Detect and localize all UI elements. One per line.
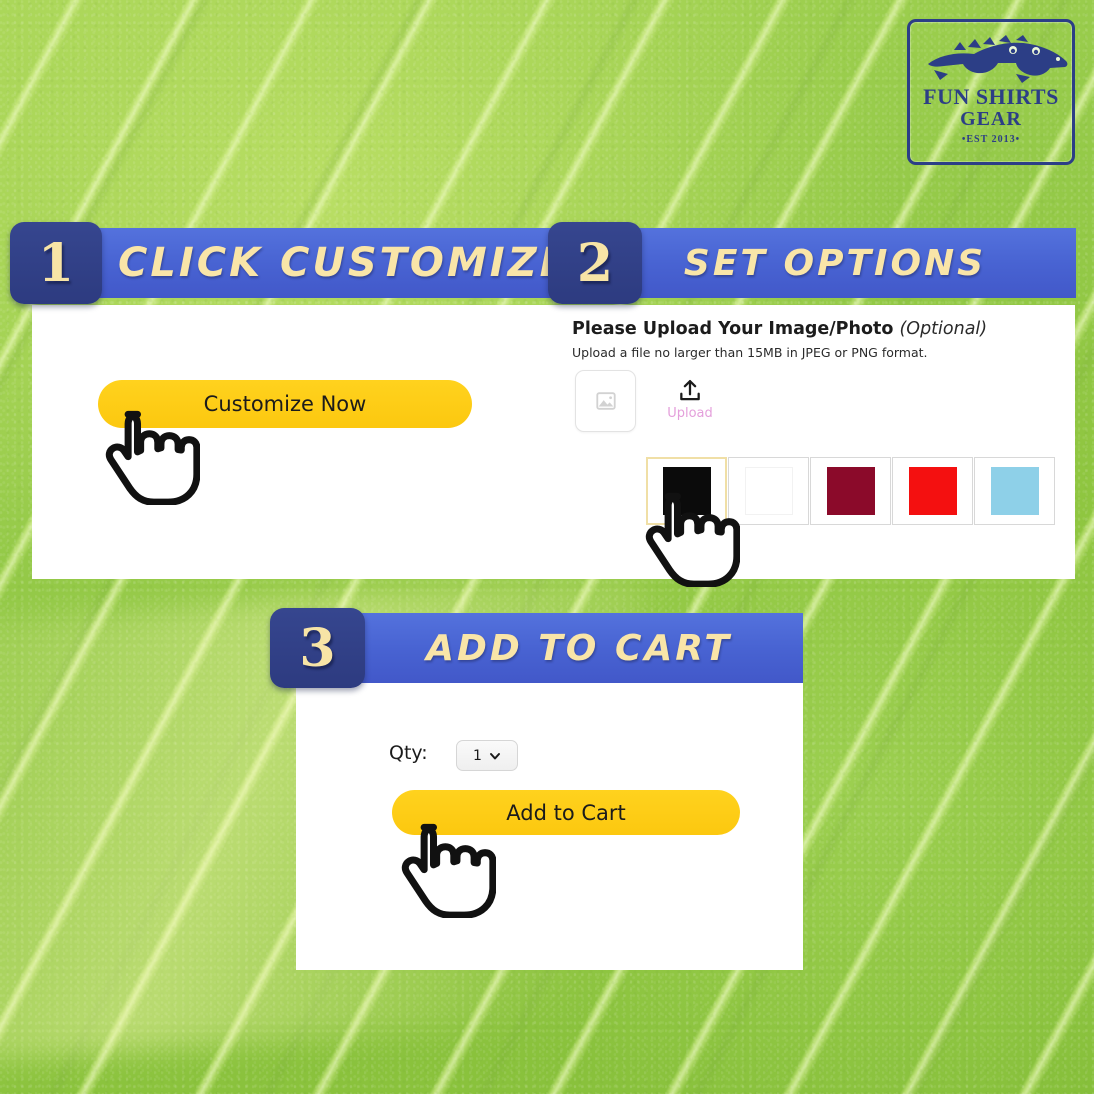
quantity-value: 1 [473,748,482,764]
logo-line-1: FUN SHIRTS [910,84,1072,110]
step-2-title: SET OPTIONS [684,243,986,284]
upload-heading: Please Upload Your Image/Photo (Optional… [572,319,987,339]
pointing-hand-cursor-step-2 [640,487,740,587]
quantity-label: Qty: [389,742,428,764]
logo-line-2: GEAR [910,108,1072,131]
logo-line-3: •EST 2013• [910,134,1072,145]
brand-logo[interactable]: FUN SHIRTS GEAR •EST 2013• [907,19,1075,165]
step-2-number: 2 [577,233,613,294]
upload-heading-optional: (Optional) [899,319,987,339]
step-2-badge: 2 [548,222,642,304]
color-swatch-maroon[interactable] [810,457,891,525]
quantity-select[interactable]: 1 [456,740,518,771]
upload-button-label: Upload [667,406,713,421]
image-thumbnail-box[interactable] [575,370,636,432]
color-swatch-light-blue[interactable] [974,457,1055,525]
color-swatch-white[interactable] [728,457,809,525]
pointing-hand-cursor-step-1 [100,405,200,505]
upload-heading-bold: Please Upload Your Image/Photo [572,319,899,339]
upload-arrow-icon [677,378,703,404]
swatch-chip [909,467,957,515]
step-2-banner: SET OPTIONS [594,228,1076,298]
upload-button[interactable]: Upload [655,378,725,426]
alligator-icon [918,30,1070,88]
step-1-number: 1 [38,233,74,294]
chevron-down-icon [489,750,501,762]
upload-note: Upload a file no larger than 15MB in JPE… [572,345,928,360]
swatch-chip [827,467,875,515]
step-3-title: ADD TO CART [426,628,732,669]
swatch-chip [745,467,793,515]
step-1-badge: 1 [10,222,102,304]
step-3-banner: ADD TO CART [355,613,803,683]
step-3-badge: 3 [270,608,365,688]
color-swatch-red[interactable] [892,457,973,525]
image-placeholder-icon [595,390,617,412]
add-to-cart-label: Add to Cart [506,801,626,825]
step-3-number: 3 [299,618,335,679]
pointing-hand-cursor-step-3 [396,818,496,918]
swatch-chip [991,467,1039,515]
step-1-title: CLICK CUSTOMIZE [118,240,570,286]
customize-now-label: Customize Now [204,392,367,416]
